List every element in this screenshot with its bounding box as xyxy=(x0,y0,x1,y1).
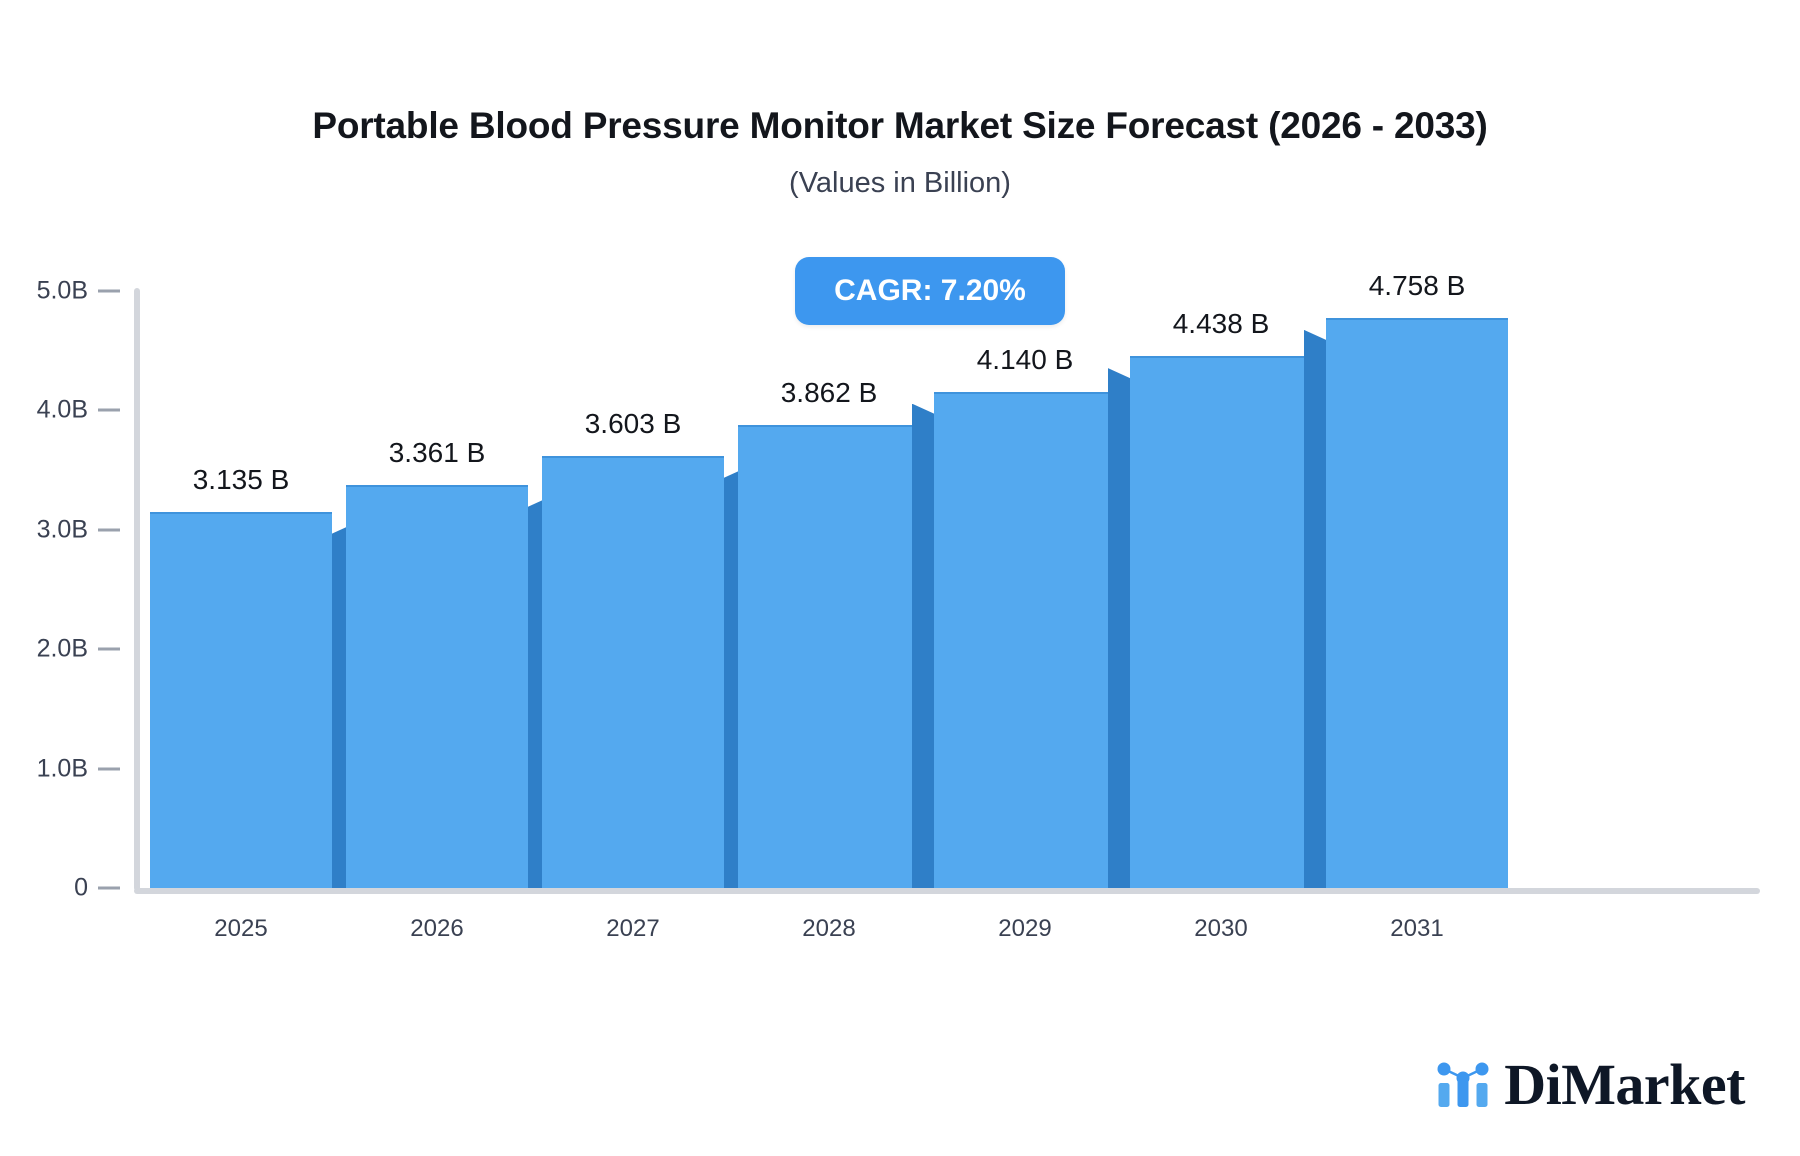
bar-value-label: 3.603 B xyxy=(512,408,754,440)
y-axis-tick-mark xyxy=(98,767,120,770)
bar-front-face xyxy=(1130,356,1312,888)
bar-front-face xyxy=(542,456,724,888)
y-axis-tick-mark xyxy=(98,409,120,412)
bar-chart-dots-icon xyxy=(1436,1058,1490,1113)
bar-front-face xyxy=(150,512,332,888)
cagr-badge: CAGR: 7.20% xyxy=(795,257,1065,325)
cagr-badge-label: CAGR: 7.20% xyxy=(834,274,1026,308)
bar[interactable] xyxy=(150,514,332,888)
y-axis-tick-mark xyxy=(98,528,120,531)
bar[interactable] xyxy=(934,394,1116,888)
y-axis-tick-label: 5.0B xyxy=(10,277,88,306)
y-axis-tick-label: 0 xyxy=(10,874,88,903)
dimarket-logo: DiMarket xyxy=(1436,1056,1745,1114)
y-axis-tick-mark xyxy=(98,290,120,293)
bar[interactable] xyxy=(542,458,724,888)
bar-front-face xyxy=(738,425,920,888)
x-axis-line xyxy=(134,888,1760,894)
y-axis-tick-label: 1.0B xyxy=(10,754,88,783)
bar-value-label: 3.862 B xyxy=(708,377,950,409)
y-axis-line xyxy=(134,288,140,891)
x-axis-tick-label: 2031 xyxy=(1296,915,1538,943)
bar-side-face xyxy=(1304,330,1326,888)
bar-value-label: 3.361 B xyxy=(316,437,558,469)
bar-front-face xyxy=(346,485,528,888)
y-axis-tick-mark xyxy=(98,648,120,651)
bar-value-label: 4.758 B xyxy=(1296,270,1538,302)
bar[interactable] xyxy=(738,427,920,888)
y-axis-tick-label: 2.0B xyxy=(10,635,88,664)
y-axis-tick-mark xyxy=(98,887,120,890)
bar-front-face xyxy=(934,392,1116,888)
y-axis-tick-label: 3.0B xyxy=(10,515,88,544)
y-axis-tick-label: 4.0B xyxy=(10,396,88,425)
bar[interactable] xyxy=(346,487,528,888)
chart-plot-area: 01.0B2.0B3.0B4.0B5.0B 3.135 B3.361 B3.60… xyxy=(0,0,1800,1156)
bar-side-face xyxy=(912,404,934,888)
logo-text: DiMarket xyxy=(1504,1056,1745,1114)
bar-side-face xyxy=(1108,368,1130,888)
bar[interactable] xyxy=(1326,320,1508,888)
bar[interactable] xyxy=(1130,358,1312,888)
bar-front-face xyxy=(1326,318,1508,888)
